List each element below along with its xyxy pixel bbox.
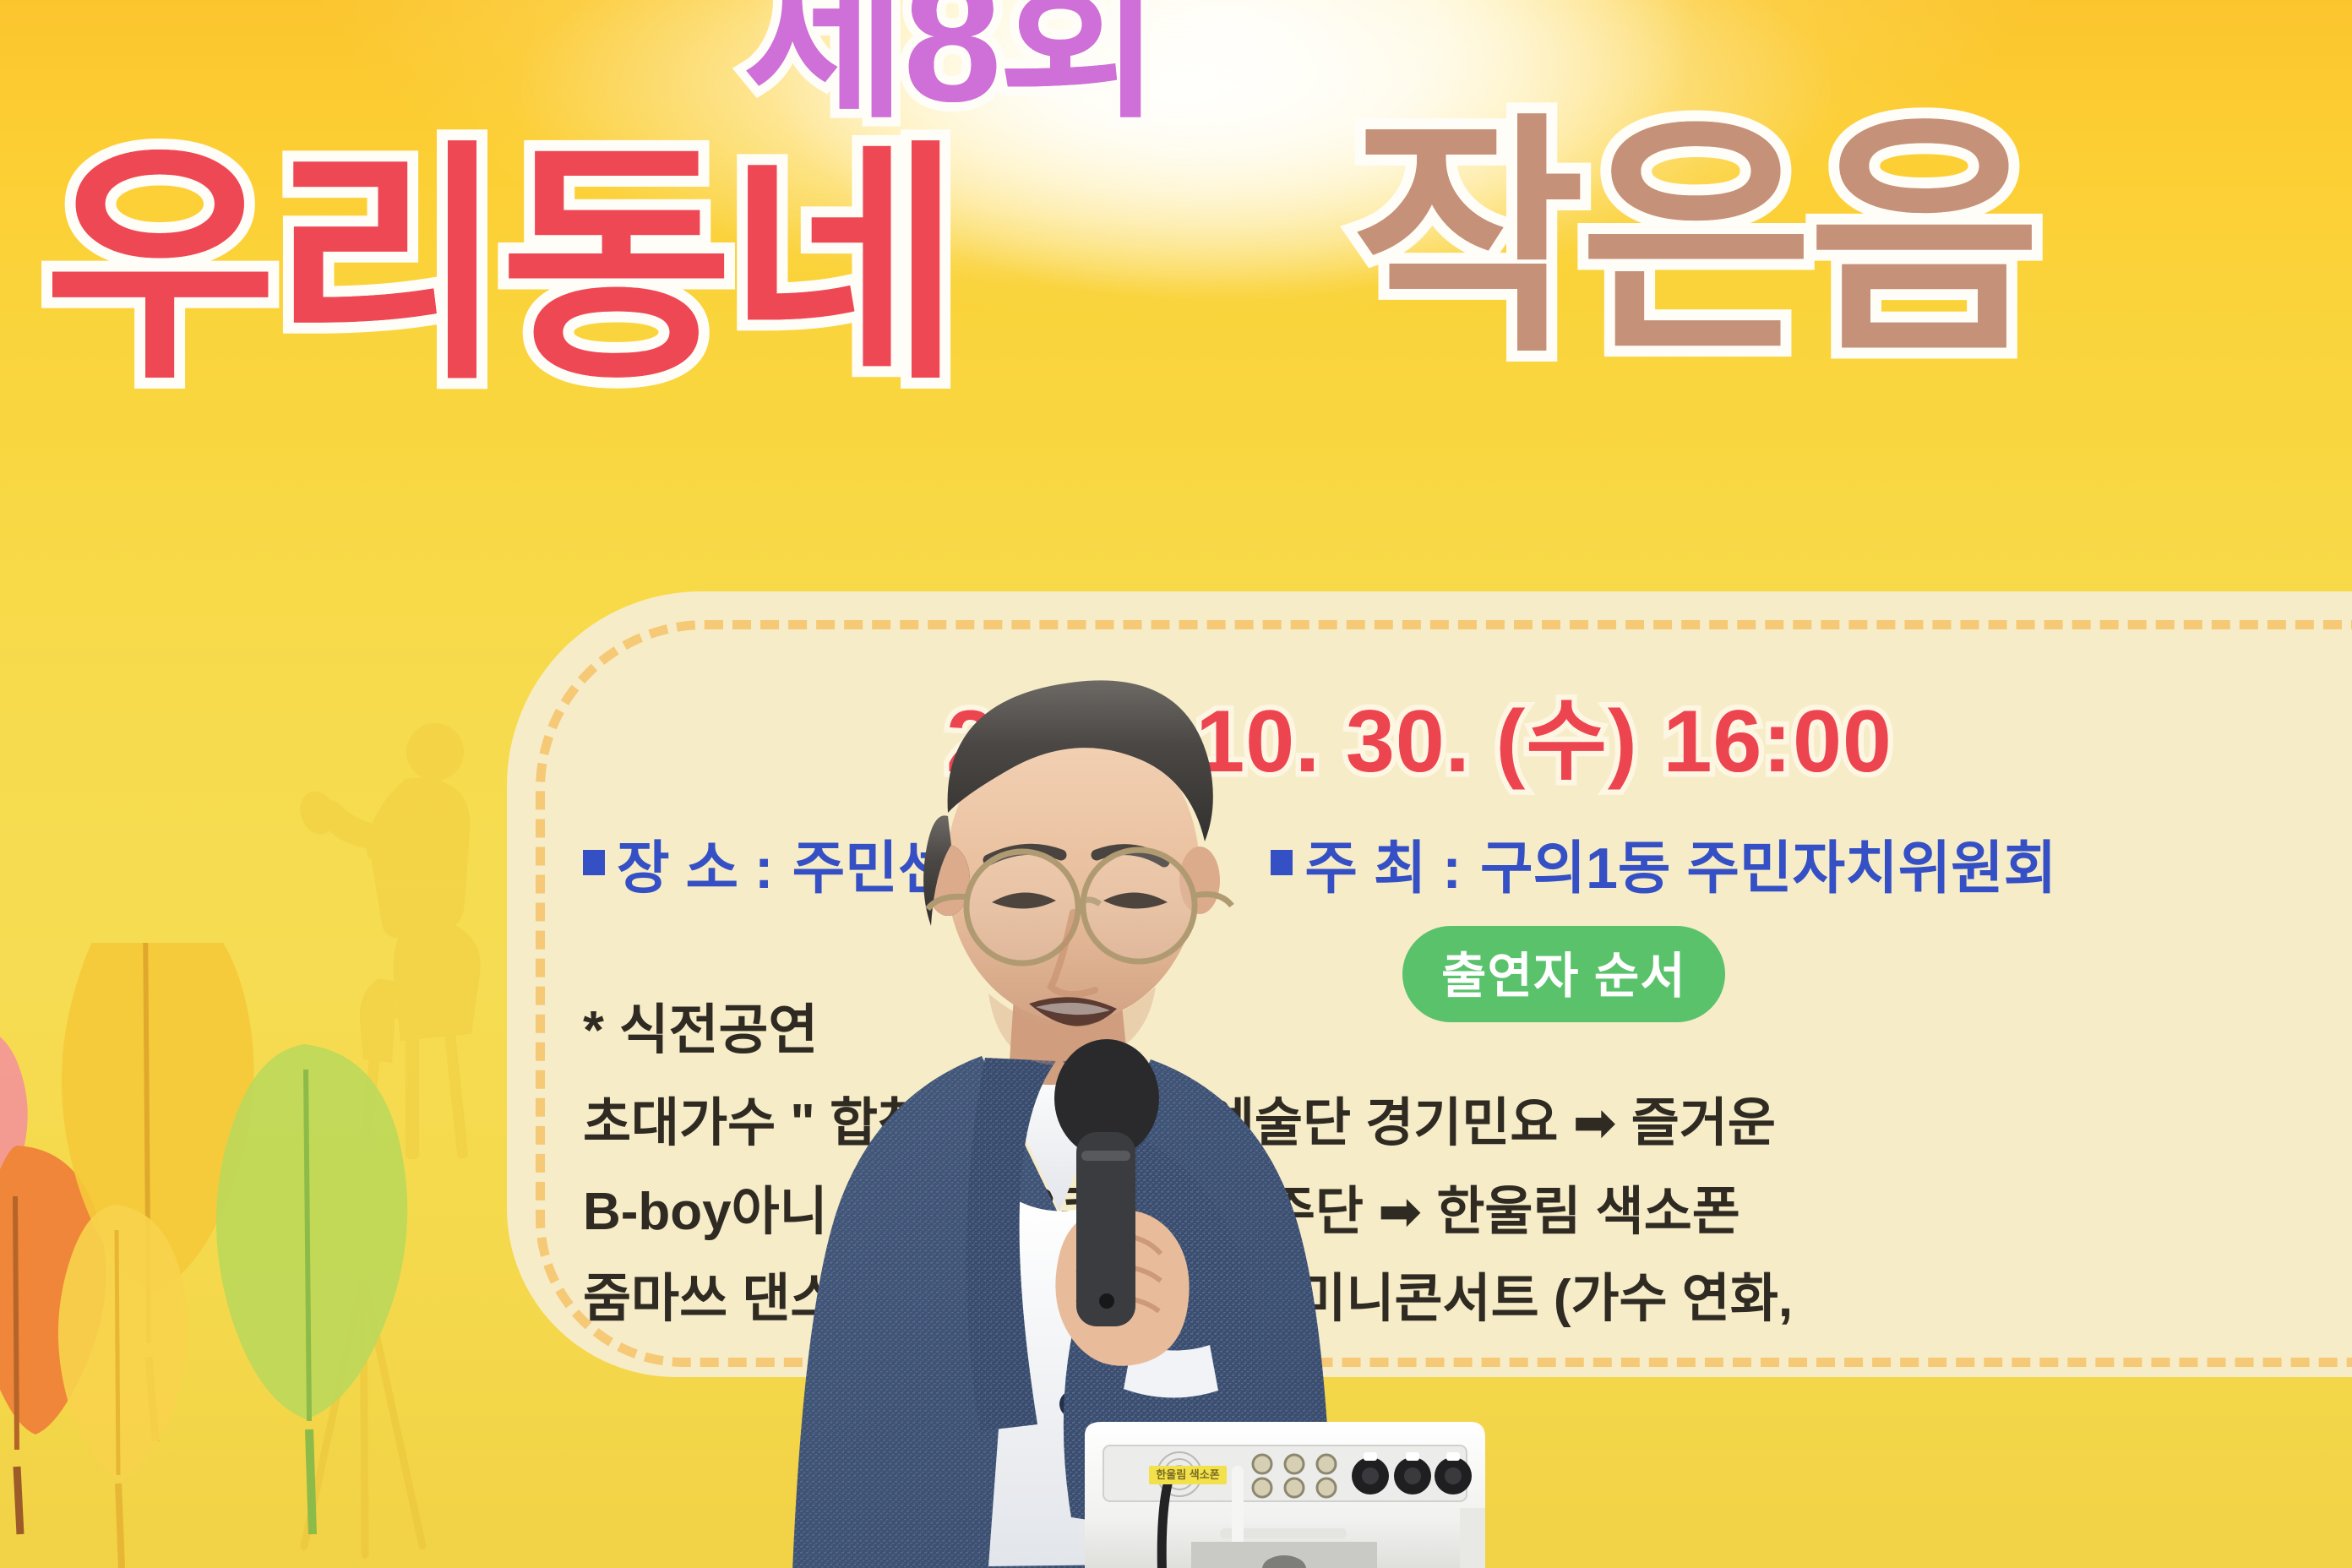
stage-monitor-unit <box>1073 1415 1495 1568</box>
autumn-leaves-decoration <box>0 943 473 1568</box>
banner-organizer-value: 구의1동 주민자치위원회 <box>1480 821 2056 905</box>
green-leaf <box>216 1044 407 1534</box>
banner-title-brown: 작은음 <box>1352 34 2036 400</box>
screenshot-root: 제8회 제8회 우리동네 우리동네 작은음 작은음 2019. 10. 30. … <box>0 0 2352 1568</box>
yellow-leaf-small <box>58 1205 188 1568</box>
banner-title-red: 우리동네 <box>44 61 956 427</box>
monitor-label: 한울림 색소폰 <box>1149 1466 1227 1484</box>
xlr-jacks <box>1352 1452 1472 1494</box>
monitor-label-text: 한울림 색소폰 <box>1149 1466 1227 1484</box>
head <box>923 680 1232 1065</box>
square-bullet-icon <box>583 850 605 875</box>
banner-title-group: 제8회 제8회 우리동네 우리동네 작은음 작은음 <box>0 0 2352 536</box>
